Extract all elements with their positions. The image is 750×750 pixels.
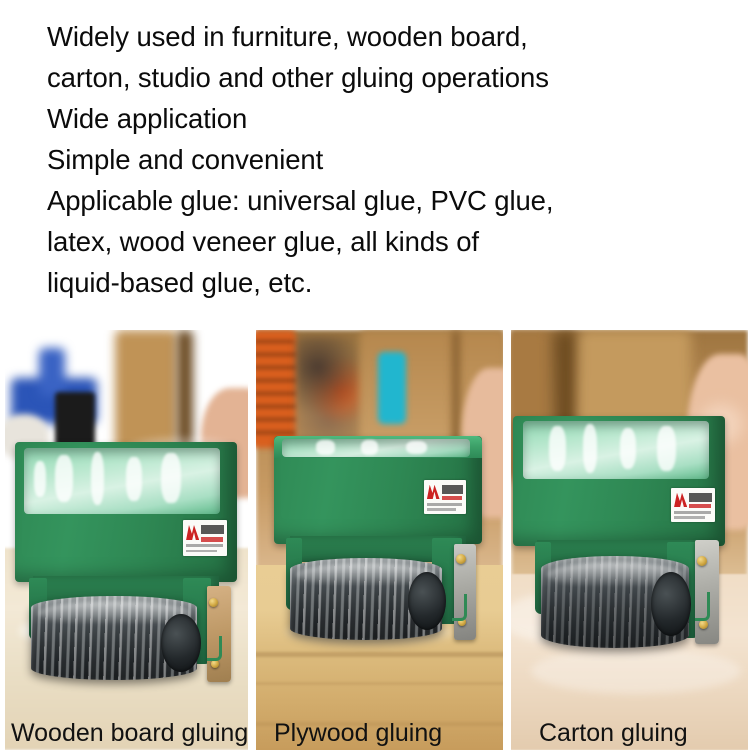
copy-line-4: Simple and convenient: [47, 139, 740, 180]
label-fineprint: [186, 544, 223, 547]
blue-vise-arm-prop: [39, 348, 65, 396]
bracket-screw-top: [456, 554, 466, 564]
toolbox-drawer-lines: [256, 340, 296, 436]
product-photo-panel-3: Carton gluing: [511, 330, 748, 750]
brand-subtitle-text: [442, 496, 462, 501]
brand-subtitle-text: [201, 537, 222, 542]
plywood-edge-line: [256, 652, 503, 657]
cyan-clamp-prop: [378, 352, 406, 424]
product-photo-panel-2: Plywood gluing: [256, 330, 503, 750]
copy-line-5: Applicable glue: universal glue, PVC glu…: [47, 180, 740, 221]
product-photo-panel-1: Wooden board gluing: [5, 330, 248, 750]
glue-residue: [316, 440, 335, 454]
glue-residue: [406, 441, 427, 455]
roller-hook: [452, 594, 467, 621]
scene-wooden-board: [5, 330, 248, 750]
copy-line-7: liquid-based glue, etc.: [47, 262, 740, 303]
copy-line-3: Wide application: [47, 98, 740, 139]
label-fineprint: [674, 511, 711, 514]
glue-residue: [583, 424, 598, 473]
shelf-divider-prop: [452, 330, 460, 450]
brand-logo-icon: [427, 485, 440, 499]
glue-residue: [161, 453, 181, 503]
roller-end-cap: [408, 572, 446, 630]
brand-logo-icon: [674, 493, 687, 507]
glue-residue: [55, 455, 73, 503]
roller-end-cap: [651, 572, 691, 636]
glue-residue: [361, 440, 378, 455]
hopper-interior: [24, 448, 220, 514]
glue-residue: [126, 457, 142, 501]
bracket-screw-top: [697, 556, 707, 566]
scene-plywood: [256, 330, 503, 750]
glue-hopper: [15, 442, 237, 582]
panel-caption: Wooden board gluing: [11, 718, 248, 748]
hanging-tools-prop: [296, 336, 368, 440]
glue-coated-area: [531, 648, 741, 694]
hopper-interior: [282, 439, 470, 457]
glue-roller-tool: [511, 416, 741, 648]
panel-caption: Plywood gluing: [274, 718, 442, 748]
scene-carton: [511, 330, 748, 750]
glue-residue: [620, 428, 637, 469]
bracket-screw-top: [209, 598, 218, 607]
glue-hopper: [274, 436, 482, 544]
glue-residue: [91, 452, 105, 505]
marketing-copy-block: Widely used in furniture, wooden board, …: [0, 0, 750, 330]
copy-line-6: latex, wood veneer glue, all kinds of: [47, 221, 740, 262]
brand-label-sticker: [424, 480, 466, 514]
label-fineprint: [674, 516, 705, 519]
glue-residue: [657, 426, 676, 471]
bracket-screw-bottom: [211, 660, 219, 668]
photo-strip: Wooden board gluing: [0, 330, 750, 750]
roller-hook: [207, 636, 222, 661]
label-fineprint: [427, 503, 462, 506]
brand-name-text: [689, 493, 712, 502]
roller-hook: [695, 592, 710, 621]
label-fineprint: [186, 550, 217, 553]
hopper-interior: [523, 421, 709, 479]
brand-label-sticker: [671, 488, 715, 522]
copy-line-1: Widely used in furniture, wooden board,: [47, 16, 740, 57]
glue-roller-tool: [11, 438, 243, 678]
glue-roller-tool: [274, 436, 500, 644]
bracket-screw-bottom: [699, 620, 708, 629]
roller-end-cap: [161, 614, 201, 672]
glue-hopper: [513, 416, 725, 546]
product-marketing-image: Widely used in furniture, wooden board, …: [0, 0, 750, 750]
label-fineprint: [427, 508, 456, 511]
brand-label-sticker: [183, 520, 227, 556]
plywood-grain-line: [256, 682, 503, 685]
brand-name-text: [442, 485, 464, 494]
brand-logo-icon: [186, 525, 199, 540]
copy-line-2: carton, studio and other gluing operatio…: [47, 57, 740, 98]
brand-name-text: [201, 525, 224, 534]
glue-residue: [549, 426, 566, 471]
glue-residue: [34, 461, 46, 497]
brand-subtitle-text: [689, 504, 710, 509]
panel-caption: Carton gluing: [539, 718, 688, 748]
